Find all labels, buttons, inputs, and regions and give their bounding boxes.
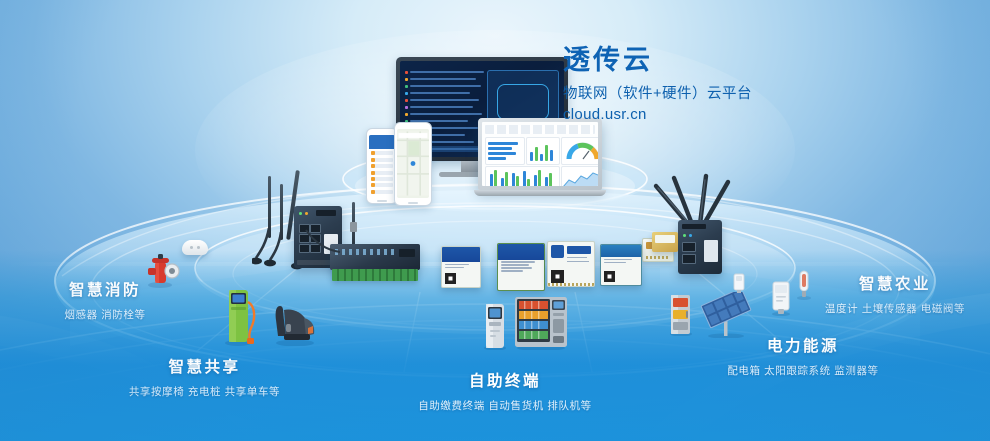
phone-a-header: [369, 135, 395, 149]
massage-chair: [272, 300, 318, 346]
valve-sensor: [731, 272, 747, 294]
category-smart-firefighting[interactable]: 智慧消防 烟感器 消防栓等: [10, 278, 200, 322]
router-body-right: [678, 220, 722, 274]
dashboard-ring-graphic: [497, 84, 549, 120]
payment-kiosk: [482, 302, 508, 350]
laptop-screen: [482, 122, 598, 186]
serial-device-server: [330, 244, 420, 284]
hero-banner: 透传云 物联网（软件+硬件）云平台 cloud.usr.cn 智慧消防 烟感器 …: [0, 0, 990, 441]
module-qr-icon: [551, 270, 564, 283]
chart-hbar: [485, 137, 525, 165]
category-subtitle: 温度计 土壤传感器 电磁阀等: [800, 301, 990, 316]
category-power-energy[interactable]: 电力能源 配电箱 太阳跟踪系统 监测器等: [688, 334, 918, 378]
multi-antenna-router: [648, 172, 758, 278]
module-label-band: [442, 247, 480, 262]
category-subtitle: 共享按摩椅 充电桩 共享单车等: [92, 384, 317, 399]
soil-sensor: [769, 280, 793, 316]
laptop-base: [474, 190, 606, 196]
module-label-band: [498, 244, 544, 260]
module-wifi-lte: [600, 244, 642, 286]
power-cabinet: [668, 294, 694, 336]
phone-b-home-indicator: [408, 202, 418, 204]
category-title: 自助终端: [385, 369, 625, 391]
vending-machine: [513, 296, 569, 350]
category-subtitle: 配电箱 太阳跟踪系统 监测器等: [688, 363, 918, 378]
smoke-detector: [182, 240, 208, 258]
phone-b-screen: [397, 129, 429, 198]
category-smart-sharing[interactable]: 智慧共享 共享按摩椅 充电桩 共享单车等: [92, 355, 317, 399]
category-subtitle: 自助缴费终端 自动售货机 排队机等: [385, 398, 625, 413]
pcb-module-gold: [652, 232, 678, 252]
module-qr-icon: [445, 273, 456, 284]
charging-pile: [224, 288, 258, 346]
phone-map-graphic: [397, 129, 429, 198]
laptop: [478, 118, 610, 202]
chart-vbar-grouped: [485, 166, 560, 186]
chart-vbar-small: [526, 137, 560, 165]
chart-gauge: [561, 137, 598, 165]
category-subtitle: 烟感器 消防栓等: [10, 307, 200, 322]
category-self-service-terminal[interactable]: 自助终端 自助缴费终端 自动售货机 排队机等: [385, 369, 625, 413]
module-usr-c215: [441, 246, 481, 288]
laptop-toolbar: [485, 125, 595, 134]
brand-title: 透传云: [563, 46, 863, 76]
chart-area: [561, 166, 598, 186]
category-title: 智慧共享: [92, 355, 317, 377]
brand-block: 透传云 物联网（软件+硬件）云平台 cloud.usr.cn: [563, 46, 863, 123]
category-title: 智慧农业: [800, 272, 990, 294]
brand-subtitle: 物联网（软件+硬件）云平台: [563, 85, 863, 103]
phone-map-view: [394, 122, 432, 206]
module-usr-gm1: [547, 241, 595, 287]
category-title: 电力能源: [688, 334, 918, 356]
antenna-connector: [350, 222, 357, 232]
laptop-lid: [478, 118, 602, 190]
category-smart-agriculture[interactable]: 智慧农业 温度计 土壤传感器 电磁阀等: [800, 272, 990, 316]
solar-tracker: [698, 292, 754, 338]
category-title: 智慧消防: [10, 278, 200, 300]
brand-url[interactable]: cloud.usr.cn: [563, 106, 863, 123]
module-qr-icon: [604, 271, 615, 282]
module-e400v: [497, 243, 545, 291]
module-label-band: [601, 245, 641, 257]
